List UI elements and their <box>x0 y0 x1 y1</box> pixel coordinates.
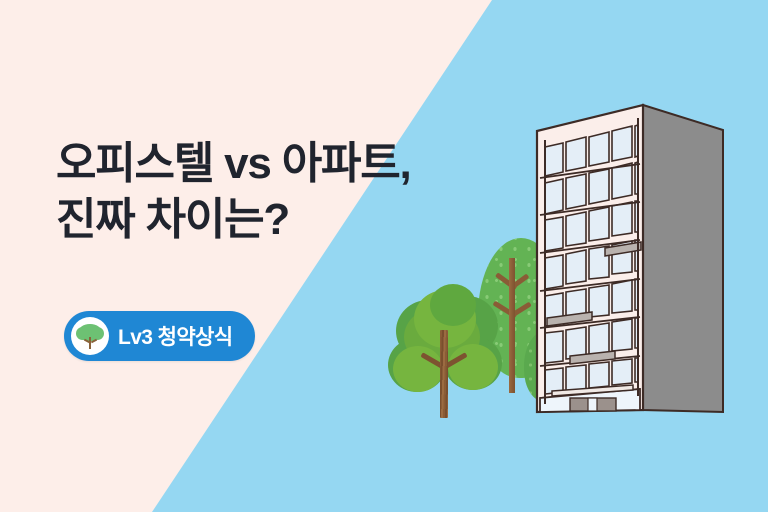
building-side-wall <box>643 105 723 412</box>
headline-line-2: 진짜 차이는? <box>56 192 486 248</box>
page-title: 오피스텔 vs 아파트, 진짜 차이는? <box>56 136 486 249</box>
tree-icon <box>71 317 109 355</box>
poster-canvas: 오피스텔 vs 아파트, 진짜 차이는? Lv3 청약상식 <box>0 0 768 512</box>
apartment-building <box>0 0 768 512</box>
level-badge-label: Lv3 청약상식 <box>118 321 233 351</box>
headline-line-1: 오피스텔 vs 아파트, <box>56 136 486 192</box>
level-badge[interactable]: Lv3 청약상식 <box>64 311 255 361</box>
